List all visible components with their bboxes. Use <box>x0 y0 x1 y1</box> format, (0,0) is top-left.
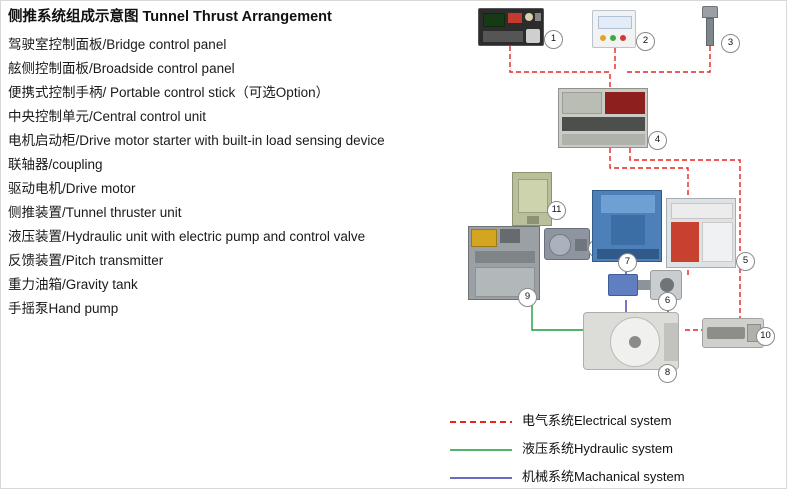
list-item-11: 重力油箱/Gravity tank <box>8 273 458 297</box>
device-pitch-transmitter <box>544 228 590 260</box>
legend-label-electrical: 电气系统Electrical system <box>522 410 672 429</box>
callout-2: 2 <box>636 32 655 51</box>
callout-8: 8 <box>658 364 677 383</box>
callout-10: 10 <box>756 327 775 346</box>
list-item-5: 电机启动柜/Drive motor starter with built-in … <box>8 129 458 153</box>
device-central-control-unit <box>558 88 648 148</box>
page-title: 侧推系统组成示意图 Tunnel Thrust Arrangement <box>8 8 458 26</box>
legend-label-mechanical: 机械系统Machanical system <box>522 466 685 485</box>
device-broadside-control-panel <box>592 10 636 48</box>
callout-6: 6 <box>658 292 677 311</box>
legend-label-hydraulic: 液压系统Hydraulic system <box>522 438 673 457</box>
legend-row-hydraulic: 液压系统Hydraulic system <box>450 433 780 461</box>
callout-4: 4 <box>648 131 667 150</box>
list-item-1: 驾驶室控制面板/Bridge control panel <box>8 33 458 57</box>
legend-row-electrical: 电气系统Electrical system <box>450 405 780 433</box>
system-diagram: 1 2 3 4 11 12 7 <box>440 0 788 400</box>
legend-row-mechanical: 机械系统Machanical system <box>450 461 780 489</box>
device-hand-pump <box>702 318 764 348</box>
callout-9: 9 <box>518 288 537 307</box>
component-list: 侧推系统组成示意图 Tunnel Thrust Arrangement 驾驶室控… <box>8 8 458 321</box>
list-item-3: 便携式控制手柄/ Portable control stick（可选Option… <box>8 81 458 105</box>
device-drive-motor-starter <box>666 198 736 268</box>
list-item-2: 舷侧控制面板/Broadside control panel <box>8 57 458 81</box>
list-item-8: 侧推装置/Tunnel thruster unit <box>8 201 458 225</box>
list-item-9: 液压装置/Hydraulic unit with electric pump a… <box>8 225 458 249</box>
list-item-4: 中央控制单元/Central control unit <box>8 105 458 129</box>
device-gravity-tank <box>512 172 552 226</box>
callout-1: 1 <box>544 30 563 49</box>
callout-11: 11 <box>547 201 566 220</box>
device-bridge-control-panel <box>478 8 544 46</box>
list-item-6: 联轴器/coupling <box>8 153 458 177</box>
legend-key: 电气系统Electrical system 液压系统Hydraulic syst… <box>450 405 780 489</box>
list-item-12: 手摇泵Hand pump <box>8 297 458 321</box>
device-tunnel-thruster-unit <box>592 190 662 262</box>
callout-5: 5 <box>736 252 755 271</box>
list-item-10: 反馈装置/Pitch transmitter <box>8 249 458 273</box>
callout-3: 3 <box>721 34 740 53</box>
device-portable-control-stick <box>699 6 721 46</box>
device-propeller-tunnel <box>583 312 679 370</box>
list-item-7: 驱动电机/Drive motor <box>8 177 458 201</box>
